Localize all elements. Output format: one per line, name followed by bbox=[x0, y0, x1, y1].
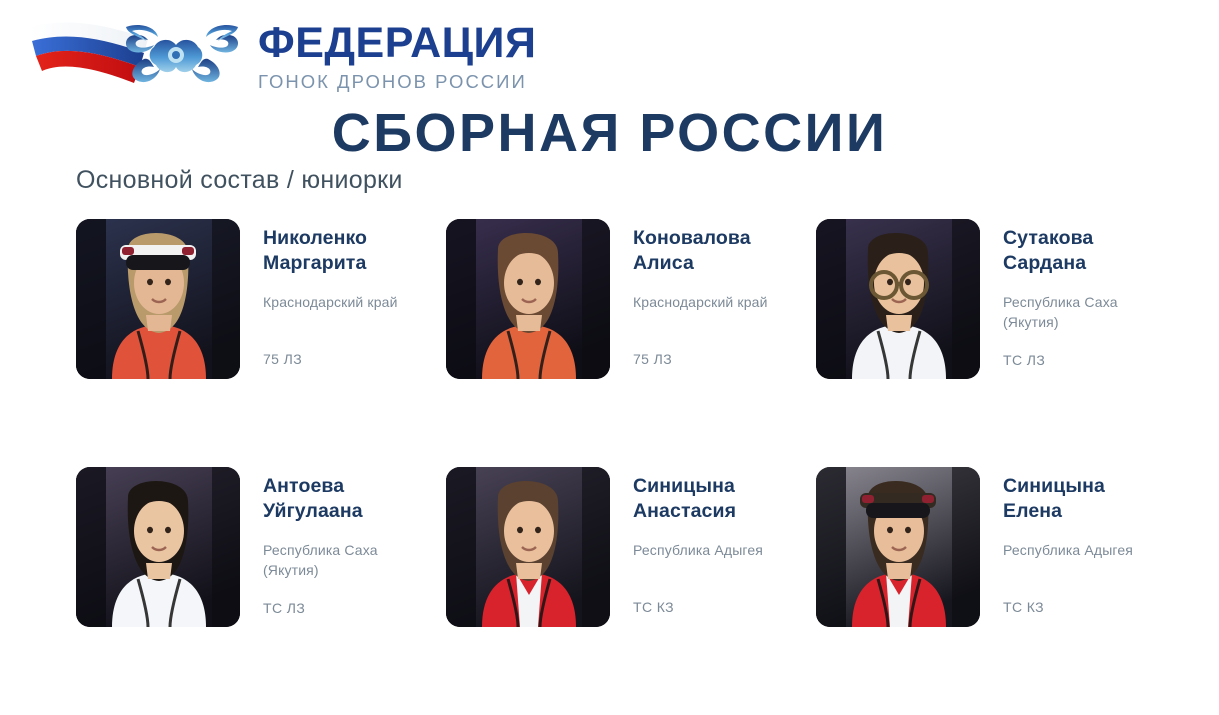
member-card[interactable]: Николенко Маргарита Краснодарский край 7… bbox=[76, 219, 446, 399]
member-card[interactable]: Коновалова Алиса Краснодарский край 75 Л… bbox=[446, 219, 816, 399]
logo-subtitle: ГОНОК ДРОНОВ РОССИИ bbox=[258, 72, 536, 92]
federation-logo[interactable]: ФЕДЕРАЦИЯ ГОНОК ДРОНОВ РОССИИ bbox=[24, 13, 536, 97]
member-region: Республика Адыгея bbox=[633, 540, 813, 580]
member-class: 75 ЛЗ bbox=[263, 332, 443, 367]
member-class: ТС ЛЗ bbox=[263, 581, 443, 616]
logo-wordmark: ФЕДЕРАЦИЯ ГОНОК ДРОНОВ РОССИИ bbox=[258, 18, 536, 92]
member-class: ТС ЛЗ bbox=[1003, 333, 1183, 368]
member-name: Сутакова Сардана bbox=[1003, 226, 1183, 276]
member-name: Синицына Анастасия bbox=[633, 474, 813, 524]
member-info: Синицына Елена Республика Адыгея ТС КЗ bbox=[1003, 467, 1183, 615]
team-roster-grid: Николенко Маргарита Краснодарский край 7… bbox=[76, 219, 1176, 715]
member-info: Антоева Уйгулаана Республика Саха (Якути… bbox=[263, 467, 443, 616]
member-region: Республика Адыгея bbox=[1003, 540, 1183, 580]
page-header: ФЕДЕРАЦИЯ ГОНОК ДРОНОВ РОССИИ bbox=[0, 0, 1219, 104]
page-subtitle: Основной состав / юниорки bbox=[76, 166, 403, 195]
member-class: ТС КЗ bbox=[633, 580, 813, 615]
page-title: СБОРНАЯ РОССИИ bbox=[0, 104, 1219, 163]
member-region: Краснодарский край bbox=[633, 292, 813, 332]
member-class: ТС КЗ bbox=[1003, 580, 1183, 615]
member-region: Республика Саха (Якутия) bbox=[1003, 292, 1183, 333]
member-info: Сутакова Сардана Республика Саха (Якутия… bbox=[1003, 219, 1183, 368]
member-name: Коновалова Алиса bbox=[633, 226, 813, 276]
member-card[interactable]: Синицына Анастасия Республика Адыгея ТС … bbox=[446, 467, 816, 647]
member-card[interactable]: Синицына Елена Республика Адыгея ТС КЗ bbox=[816, 467, 1186, 647]
member-name: Антоева Уйгулаана bbox=[263, 474, 443, 524]
member-class: 75 ЛЗ bbox=[633, 332, 813, 367]
member-region: Краснодарский край bbox=[263, 292, 443, 332]
member-name: Синицына Елена bbox=[1003, 474, 1183, 524]
member-region: Республика Саха (Якутия) bbox=[263, 540, 443, 581]
member-photo bbox=[76, 219, 240, 379]
member-photo bbox=[816, 467, 980, 627]
logo-title: ФЕДЕРАЦИЯ bbox=[258, 22, 536, 65]
member-photo bbox=[446, 467, 610, 627]
member-info: Синицына Анастасия Республика Адыгея ТС … bbox=[633, 467, 813, 615]
flag-and-drone-icon bbox=[24, 13, 252, 97]
member-photo bbox=[76, 467, 240, 627]
member-photo bbox=[446, 219, 610, 379]
member-card[interactable]: Сутакова Сардана Республика Саха (Якутия… bbox=[816, 219, 1186, 399]
member-info: Николенко Маргарита Краснодарский край 7… bbox=[263, 219, 443, 367]
member-name: Николенко Маргарита bbox=[263, 226, 443, 276]
member-card[interactable]: Антоева Уйгулаана Республика Саха (Якути… bbox=[76, 467, 446, 647]
member-info: Коновалова Алиса Краснодарский край 75 Л… bbox=[633, 219, 813, 367]
logo-mark bbox=[24, 13, 252, 97]
member-photo bbox=[816, 219, 980, 379]
